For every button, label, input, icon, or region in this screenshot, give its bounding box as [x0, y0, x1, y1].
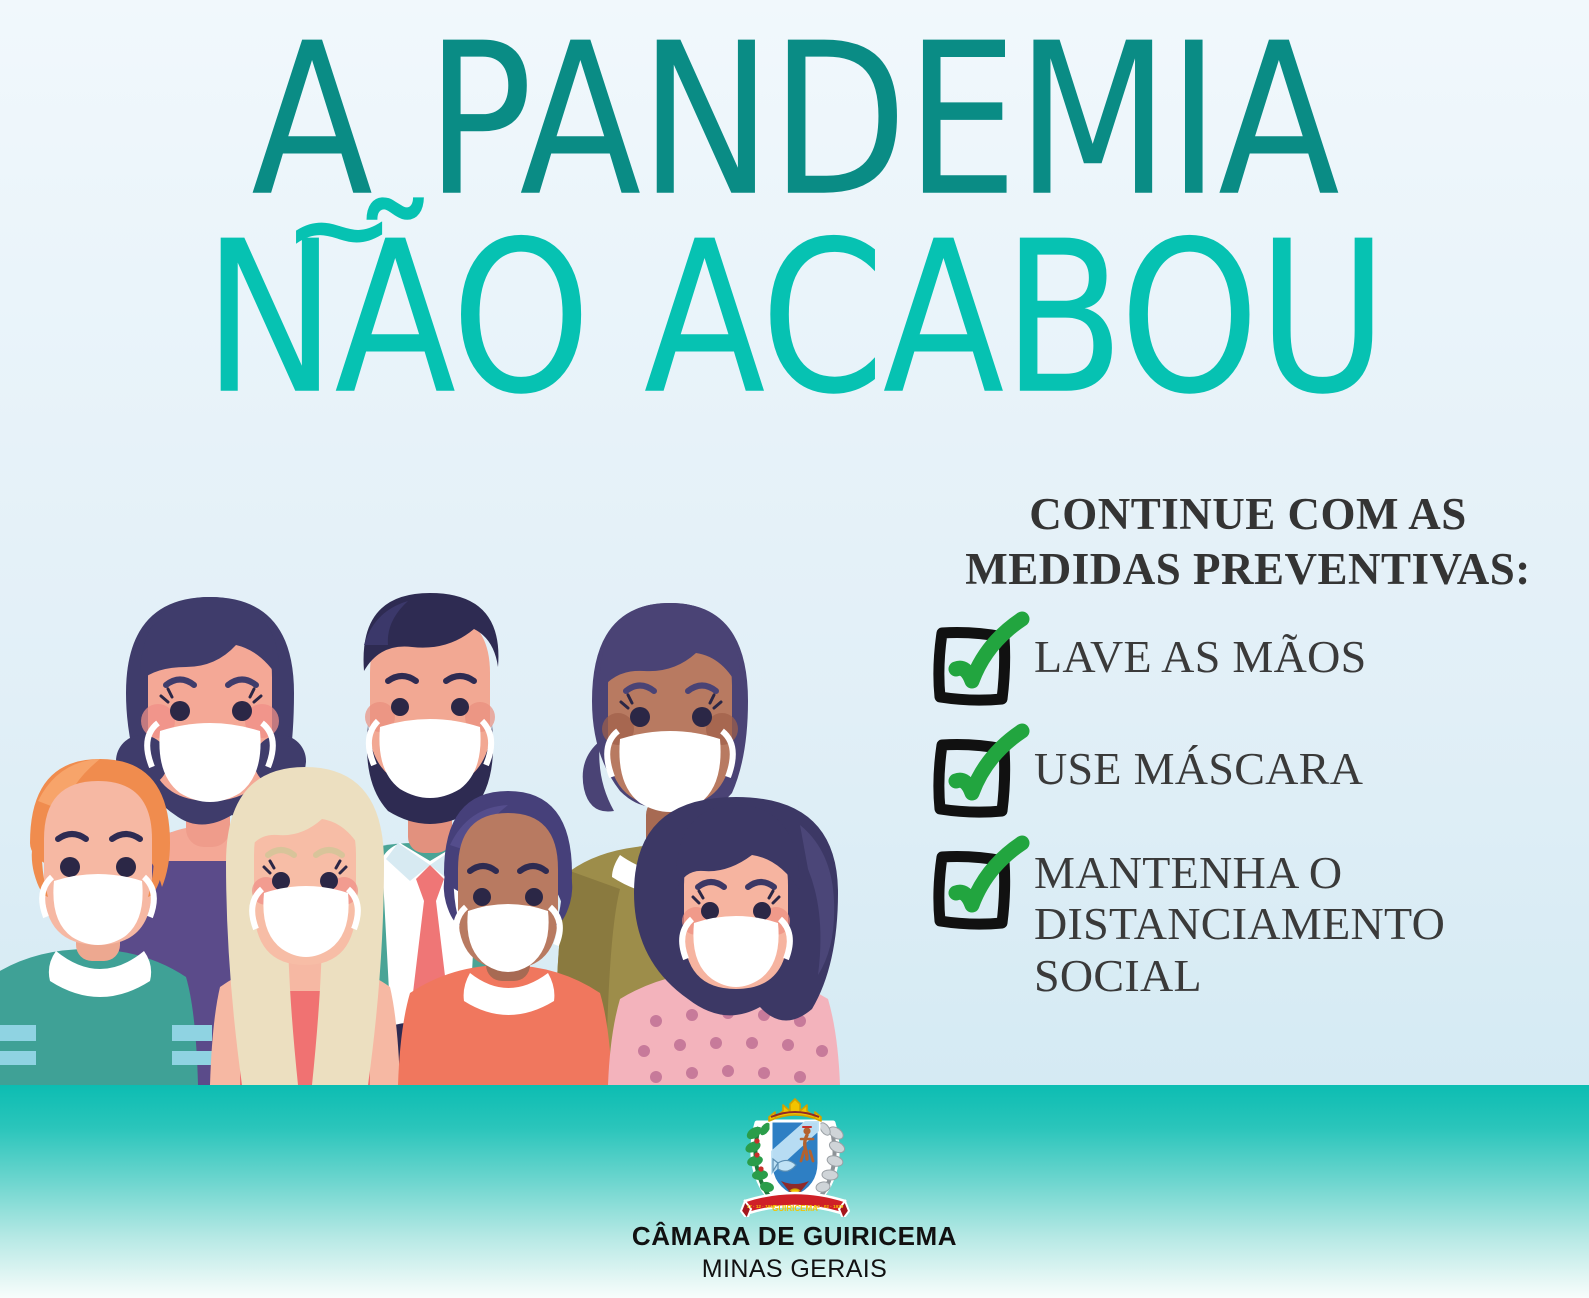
preventive-measures-checklist: CONTINUE COM AS MEDIDAS PREVENTIVAS: LAV… [928, 487, 1568, 1001]
checkbox-checked-icon[interactable] [928, 617, 1022, 709]
title-line-2: NÃO ACABOU [0, 222, 1589, 415]
checklist-item-label: MANTENHA O DISTANCIAMENTO SOCIAL [1034, 839, 1568, 1002]
checkbox-checked-icon[interactable] [928, 841, 1022, 933]
checklist-heading-line-1: CONTINUE COM AS [1029, 489, 1467, 539]
footer-band: GUIRICEMA 17 · 12 · 1938 12 · 02 · 1939 … [0, 1085, 1589, 1298]
person-girl-polkadot [608, 797, 840, 1085]
checklist-heading-line-2: MEDIDAS PREVENTIVAS: [965, 544, 1531, 594]
crest-date-left: 17 · 12 · 1938 [746, 1204, 775, 1209]
guiricema-coat-of-arms-icon: GUIRICEMA 17 · 12 · 1938 12 · 02 · 1939 [729, 1097, 861, 1217]
footer-state-name: MINAS GERAIS [0, 1255, 1589, 1284]
checklist-item-label: USE MÁSCARA [1034, 727, 1363, 795]
title-line-1: A PANDEMIA [0, 24, 1589, 217]
crest-ribbon: GUIRICEMA 17 · 12 · 1938 12 · 02 · 1939 [741, 1193, 849, 1217]
checklist-item-wash-hands[interactable]: LAVE AS MÃOS [928, 615, 1568, 709]
checkbox-checked-icon[interactable] [928, 729, 1022, 821]
poster-root: A PANDEMIA ~ NÃO ACABOU [0, 0, 1589, 1298]
person-girl-blonde [210, 767, 400, 1085]
crest-date-right: 12 · 02 · 1939 [814, 1204, 843, 1209]
crest-municipality-label: GUIRICEMA [772, 1204, 818, 1213]
checklist-item-label: LAVE AS MÃOS [1034, 615, 1367, 683]
checklist-item-social-distancing[interactable]: MANTENHA O DISTANCIAMENTO SOCIAL [928, 839, 1568, 1002]
checklist-item-use-mask[interactable]: USE MÁSCARA [928, 727, 1568, 821]
crest-crown [769, 1099, 821, 1121]
masked-people-illustration [0, 525, 880, 1085]
checklist-heading: CONTINUE COM AS MEDIDAS PREVENTIVAS: [928, 487, 1568, 597]
poster-title: A PANDEMIA ~ NÃO ACABOU [0, 24, 1589, 386]
footer-organization-name: CÂMARA DE GUIRICEMA [0, 1221, 1589, 1252]
